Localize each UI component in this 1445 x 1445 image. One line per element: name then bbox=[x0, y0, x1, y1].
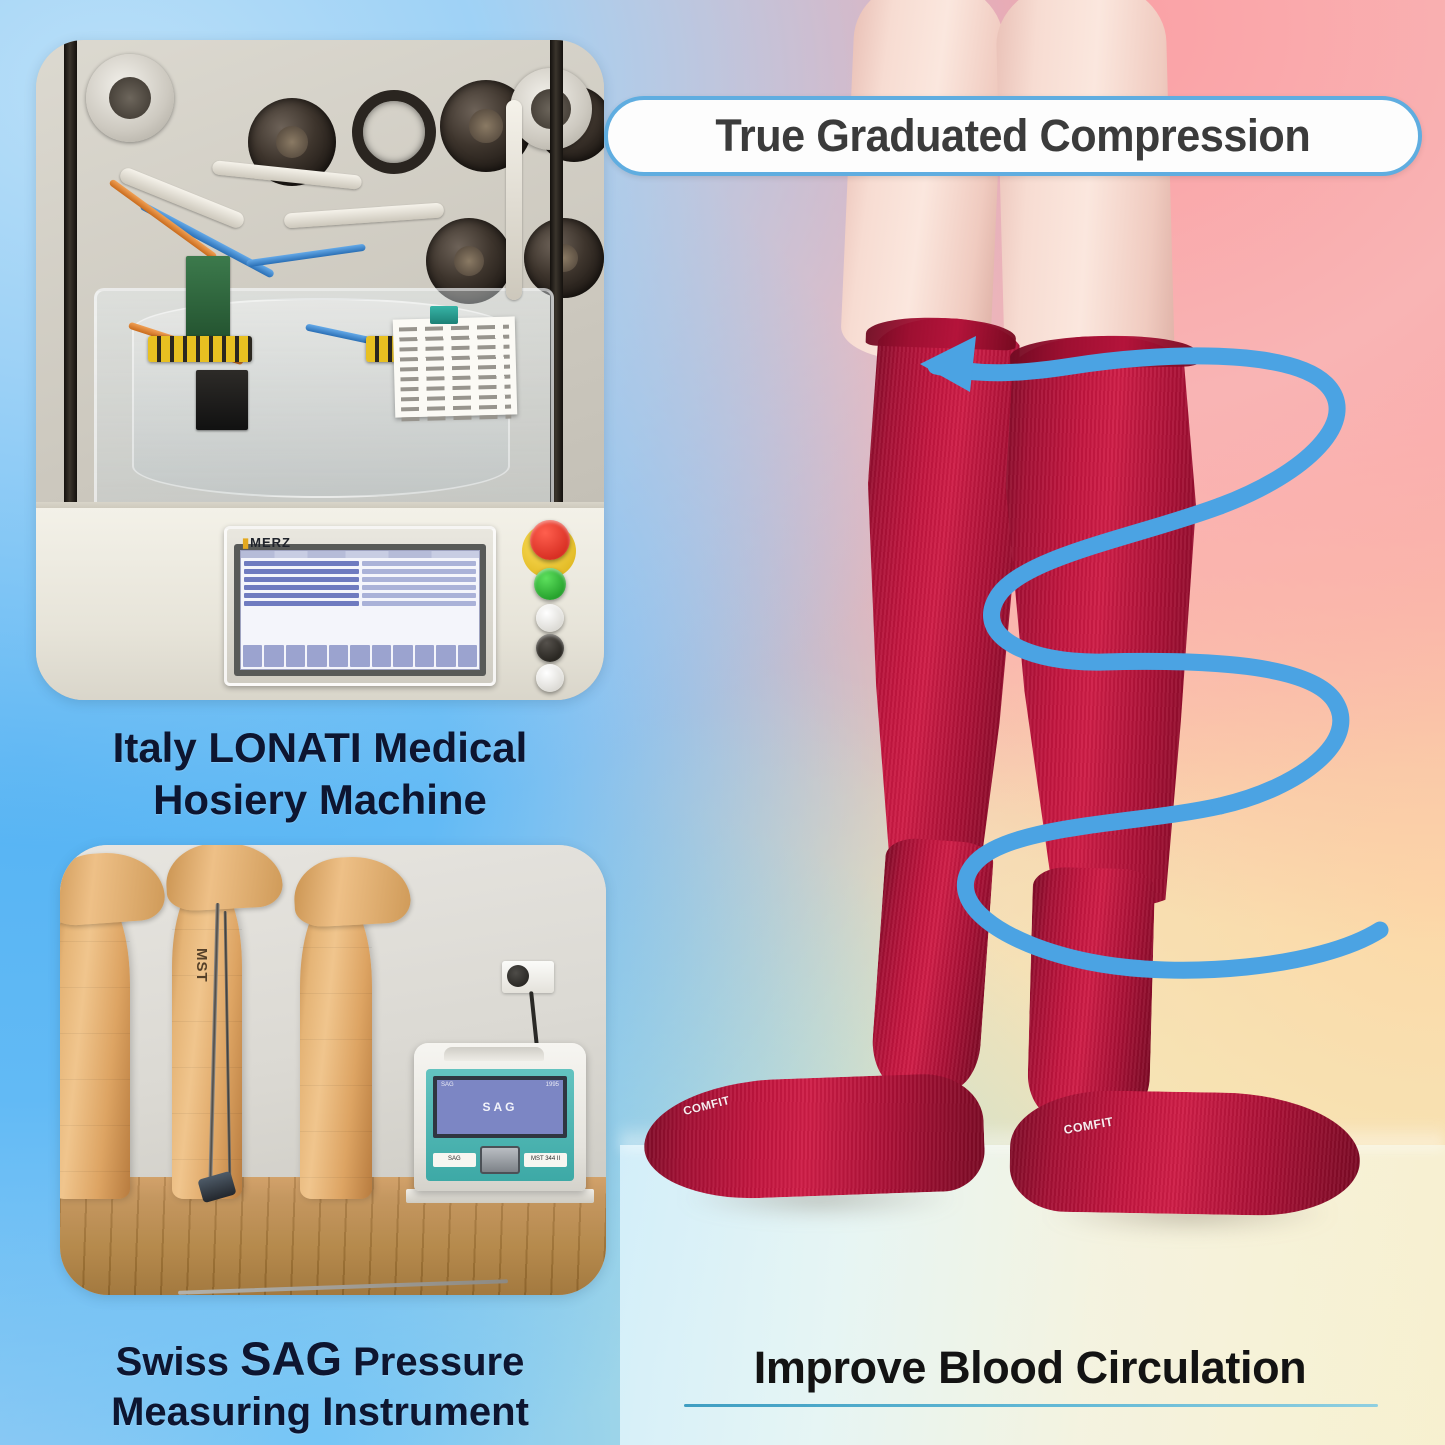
sag-caption-line1: Swiss SAG Pressure bbox=[40, 1330, 600, 1388]
wooden-leg-form bbox=[172, 883, 242, 1199]
compression-sock-back-foot bbox=[642, 1072, 986, 1202]
machine-worksheet bbox=[393, 316, 518, 417]
blood-circulation-caption: Improve Blood Circulation bbox=[680, 1342, 1380, 1394]
hmi-key-row[interactable] bbox=[241, 643, 479, 669]
compression-sock-front-ankle bbox=[1027, 866, 1156, 1121]
machine-frame-post bbox=[64, 40, 77, 510]
hmi-menu-bar[interactable] bbox=[241, 551, 479, 558]
white-button-2[interactable] bbox=[536, 664, 564, 692]
legs-photo: COMFIT COMFIT bbox=[620, 0, 1445, 1260]
sag-device-screen[interactable]: SAG 1995 SAG bbox=[433, 1076, 567, 1138]
wall-outlet bbox=[502, 961, 554, 993]
black-button[interactable] bbox=[536, 634, 564, 662]
compression-sock-back-ankle bbox=[869, 837, 994, 1094]
hmi-parameter-area bbox=[241, 558, 479, 643]
thread-guide-disc bbox=[86, 54, 174, 142]
wooden-leg-form bbox=[300, 901, 372, 1199]
sag-photo-card: MST SAG 1995 SAG SAG MST 344 II bbox=[60, 845, 606, 1295]
sag-badge-right: MST 344 II bbox=[524, 1153, 567, 1167]
sag-caption-prefix: Swiss bbox=[116, 1340, 241, 1384]
machine-caption: Italy LONATI Medical Hosiery Machine bbox=[36, 722, 604, 826]
binder-clip bbox=[430, 306, 458, 324]
sag-badge-left: SAG bbox=[433, 1153, 476, 1167]
sag-device-stand bbox=[406, 1189, 594, 1203]
yarn-spool bbox=[524, 218, 604, 298]
compression-sock-front-calf bbox=[1003, 334, 1203, 907]
sag-screen-label-left: SAG bbox=[441, 1082, 454, 1088]
bare-leg-front bbox=[995, 0, 1175, 382]
start-button[interactable] bbox=[534, 568, 566, 600]
compression-sock-back-calf bbox=[854, 316, 1025, 881]
machine-caption-line2: Hosiery Machine bbox=[36, 774, 604, 826]
sag-caption-emphasis: SAG bbox=[240, 1332, 342, 1385]
control-module bbox=[196, 370, 248, 430]
sag-screen-label-right: 1995 bbox=[546, 1082, 559, 1088]
sag-caption-line2: Measuring Instrument bbox=[40, 1388, 600, 1438]
leg-form-mst-mark: MST bbox=[193, 948, 210, 983]
title-badge: True Graduated Compression bbox=[604, 96, 1422, 176]
wooden-leg-form-foot bbox=[164, 845, 283, 912]
circuit-board bbox=[186, 256, 230, 342]
needle-cam-yellow bbox=[148, 336, 252, 362]
white-button-1[interactable] bbox=[536, 604, 564, 632]
machine-photo-card: ▮MERZ bbox=[36, 40, 604, 700]
air-tube bbox=[506, 100, 522, 300]
sag-caption-suffix: Pressure bbox=[342, 1340, 524, 1384]
emergency-stop-button[interactable] bbox=[530, 520, 570, 560]
page-title: True Graduated Compression bbox=[716, 110, 1311, 162]
sag-device-handle bbox=[444, 1047, 544, 1061]
sag-screen-text: SAG bbox=[482, 1100, 517, 1114]
sag-printer-slot[interactable] bbox=[480, 1146, 521, 1174]
sock-cuff-back bbox=[866, 315, 1017, 350]
yarn-ring bbox=[352, 90, 436, 174]
machine-caption-line1: Italy LONATI Medical bbox=[36, 722, 604, 774]
caption-underline bbox=[684, 1404, 1378, 1407]
wooden-leg-form bbox=[60, 895, 130, 1199]
compression-sock-front-foot bbox=[1009, 1089, 1361, 1217]
sag-pressure-measuring-device[interactable]: SAG 1995 SAG SAG MST 344 II bbox=[414, 1043, 586, 1191]
sag-caption: Swiss SAG Pressure Measuring Instrument bbox=[40, 1330, 600, 1438]
sag-device-panel: SAG 1995 SAG SAG MST 344 II bbox=[426, 1069, 574, 1181]
hmi-touchscreen[interactable] bbox=[234, 544, 486, 676]
bare-leg-back bbox=[840, 0, 1006, 363]
poster-canvas: COMFIT COMFIT bbox=[0, 0, 1445, 1445]
merz-logo: ▮MERZ bbox=[242, 535, 291, 551]
